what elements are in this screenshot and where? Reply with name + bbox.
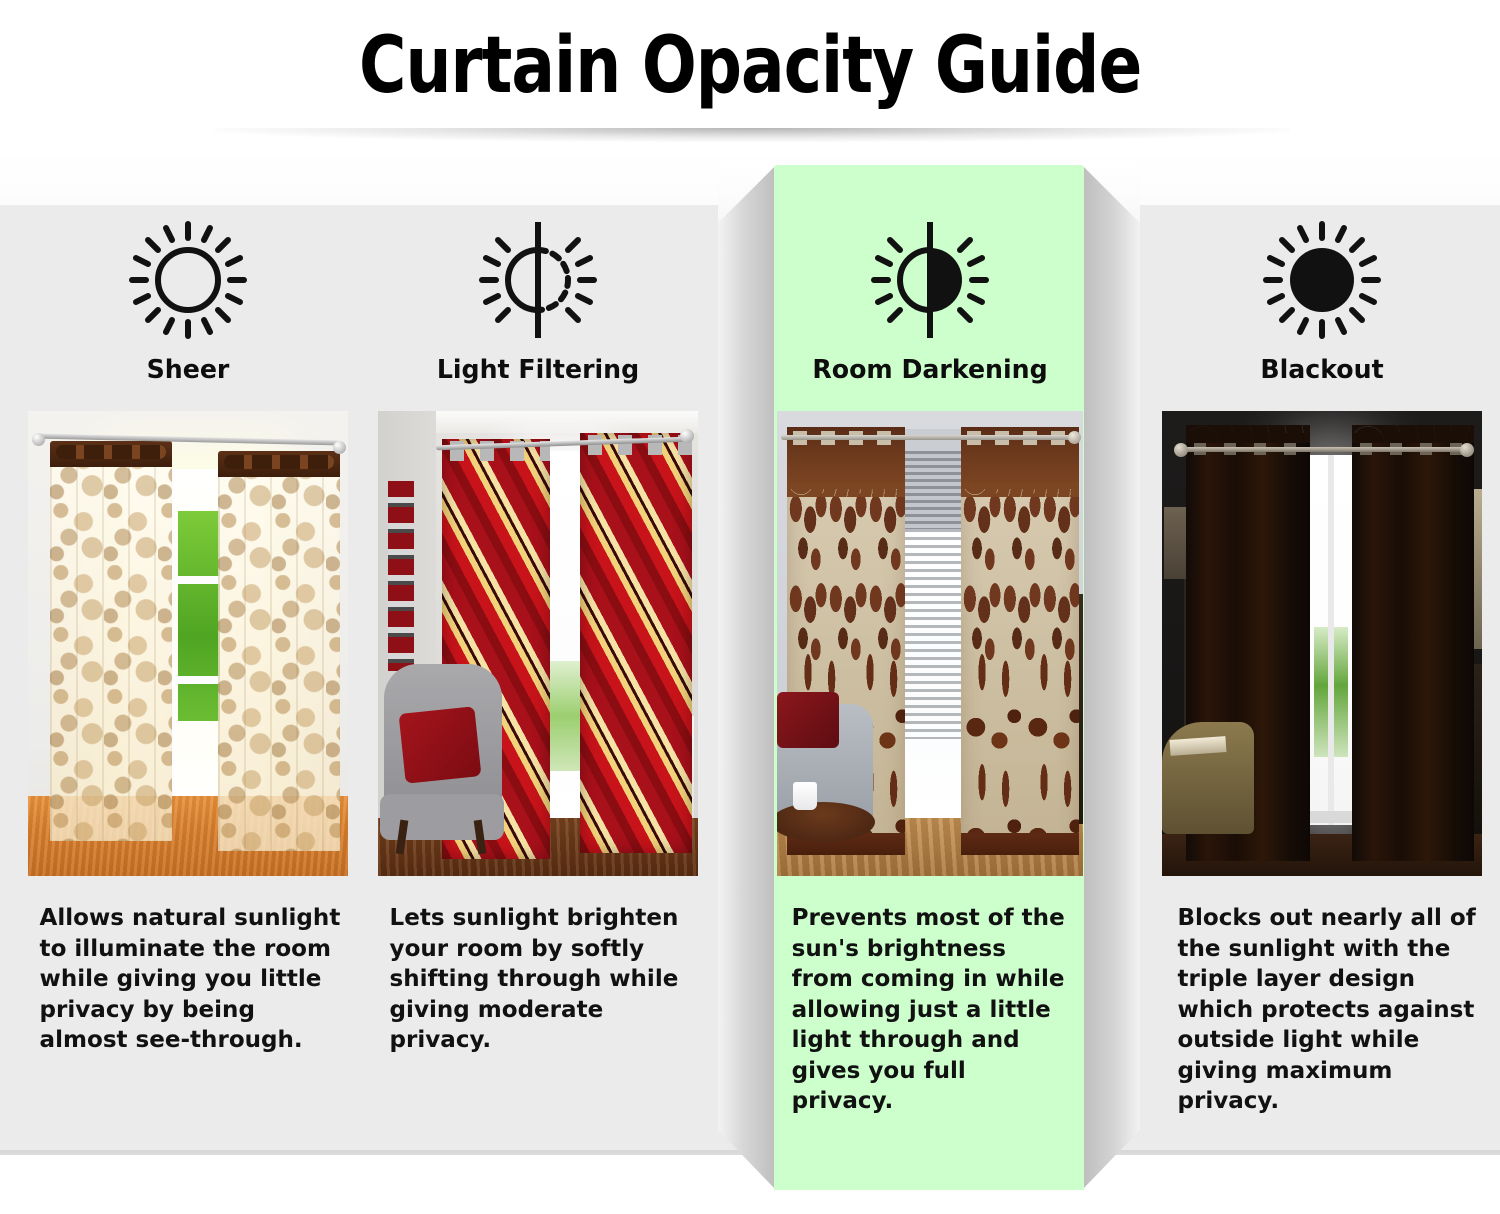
column-light-filtering: Light Filtering Lets sunlight brighten y… [368,205,708,1055]
photo-sheer [28,411,348,876]
photo-room-darkening [777,411,1083,876]
column-sheer: Sheer Allows natural sunlight to illumin… [18,205,358,1055]
sun-half-dashed-icon [368,205,708,355]
column-room-darkening: Room Darkening Prevents most of [774,205,1086,1116]
column-blackout: Blackout Blocks out nearly all of the su… [1152,205,1492,1116]
photo-light-filtering [378,411,698,876]
sun-outline-icon [18,205,358,355]
sun-solid-icon [1152,205,1492,355]
description-sheer: Allows natural sunlight to illuminate th… [18,902,351,1055]
type-label-room-darkening: Room Darkening [779,355,1082,385]
description-room-darkening: Prevents most of the sun's brightness fr… [774,902,1080,1116]
description-light-filtering: Lets sunlight brighten your room by soft… [368,902,701,1055]
type-label-sheer: Sheer [23,355,353,385]
type-label-light-filtering: Light Filtering [373,355,703,385]
type-label-blackout: Blackout [1157,355,1487,385]
photo-blackout [1162,411,1482,876]
sun-half-filled-icon [774,205,1086,355]
description-blackout: Blocks out nearly all of the sunlight wi… [1152,902,1485,1116]
